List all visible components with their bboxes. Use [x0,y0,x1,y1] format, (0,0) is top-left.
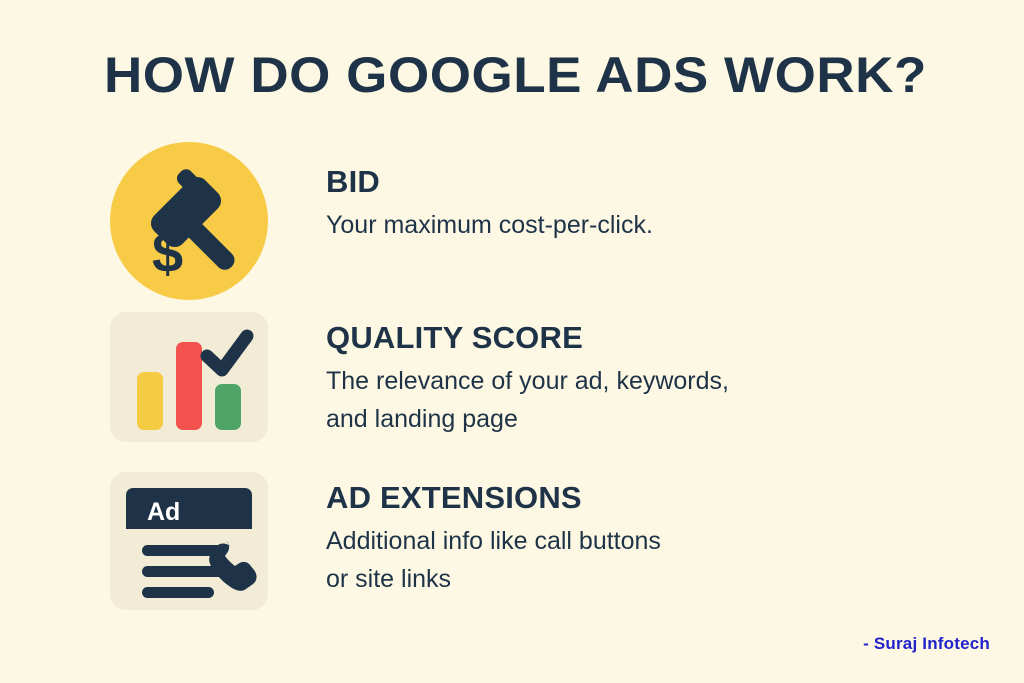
page-title: HOW DO GOOGLE ADS WORK? [104,44,1016,106]
phone-icon [209,541,256,591]
text-block-quality-score: QUALITY SCORE The relevance of your ad, … [326,312,729,438]
infographic-canvas: HOW DO GOOGLE ADS WORK? $ BID Your max [0,0,1024,683]
item-description: The relevance of your ad, keywords, and … [326,362,729,438]
item-title: AD EXTENSIONS [326,480,661,516]
list-item: QUALITY SCORE The relevance of your ad, … [110,312,729,442]
item-description: Additional info like call buttons or sit… [326,522,661,598]
icon-container-ad-extensions: Ad [110,472,268,610]
item-title: QUALITY SCORE [326,320,729,356]
list-item: $ BID Your maximum cost-per-click. [110,142,653,300]
ad-content-line [142,587,214,598]
description-line: and landing page [326,400,729,438]
icon-container-quality-score [110,312,268,442]
list-item: Ad AD EXTENSIONS Additional info like ca… [110,472,661,610]
text-block-bid: BID Your maximum cost-per-click. [326,142,653,244]
chart-bar-green [215,384,241,430]
bar-chart-check-icon [110,312,268,442]
description-line: or site links [326,560,661,598]
signature-credit: - Suraj Infotech [863,634,990,654]
ad-card-phone-icon: Ad [110,472,268,610]
icon-container-bid: $ [110,142,268,300]
description-line: Your maximum cost-per-click. [326,206,653,244]
gavel-dollar-icon: $ [110,142,268,300]
text-block-ad-extensions: AD EXTENSIONS Additional info like call … [326,472,661,598]
item-description: Your maximum cost-per-click. [326,206,653,244]
ad-header-bar [126,488,252,529]
item-title: BID [326,164,653,200]
chart-bar-yellow [137,372,163,430]
ad-content-line [142,566,224,577]
ad-badge-label: Ad [147,498,180,526]
description-line: The relevance of your ad, keywords, [326,362,729,400]
chart-bar-red [176,342,202,430]
description-line: Additional info like call buttons [326,522,661,560]
svg-text:$: $ [152,221,183,284]
